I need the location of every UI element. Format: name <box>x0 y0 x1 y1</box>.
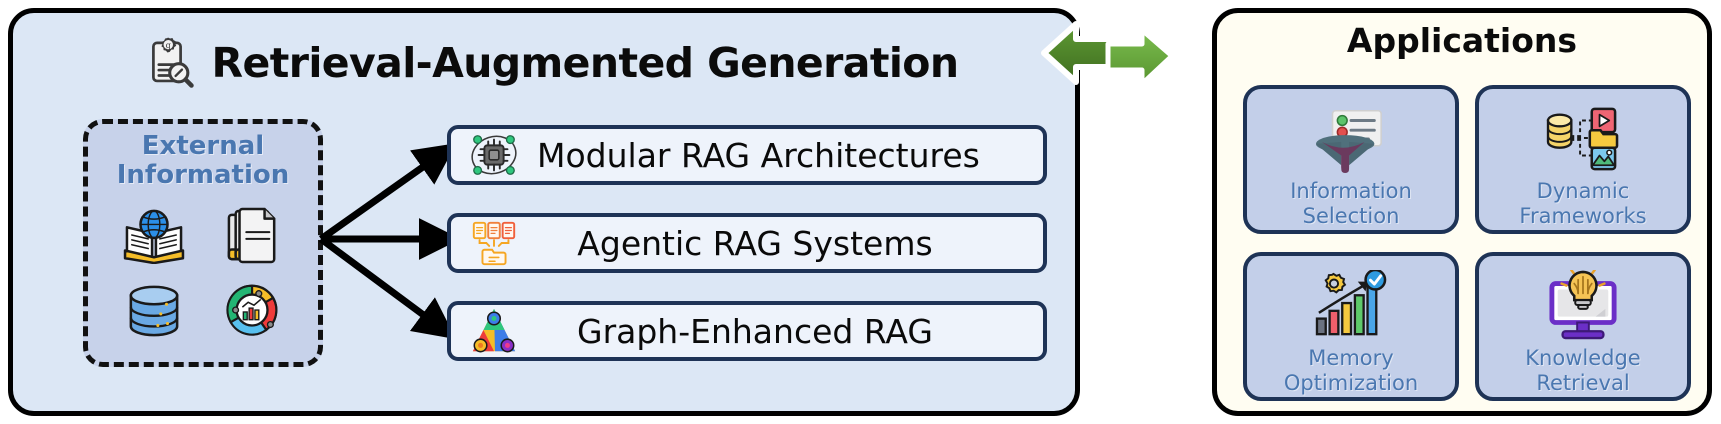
rag-panel: g Retrieval-Augmented Generation Externa… <box>8 8 1080 416</box>
applications-title: Applications <box>1217 21 1707 60</box>
chip-network-icon <box>451 129 537 181</box>
external-information-box: External Information <box>83 119 323 367</box>
external-title-line1: External <box>88 132 318 161</box>
documents-icon <box>227 207 279 265</box>
database-media-links-icon <box>1543 99 1623 177</box>
green-arrow-left <box>1044 24 1110 82</box>
external-title-line2: Information <box>88 161 318 190</box>
graph-triangle-nodes-icon <box>451 306 537 356</box>
app-card-information-selection[interactable]: Information Selection <box>1243 85 1459 234</box>
app-card-memory-optimization[interactable]: Memory Optimization <box>1243 252 1459 401</box>
app-card-label: Dynamic Frameworks <box>1519 179 1646 229</box>
external-icons <box>88 198 318 348</box>
app-card-dynamic-frameworks[interactable]: Dynamic Frameworks <box>1475 85 1691 234</box>
topic-label: Agentic RAG Systems <box>537 224 1043 263</box>
globe-book-icon <box>123 208 185 264</box>
topic-label: Modular RAG Architectures <box>537 136 1050 175</box>
applications-panel: Applications <box>1212 8 1712 416</box>
rag-title-row: g Retrieval-Augmented Generation <box>73 21 1023 105</box>
fan-arrows <box>313 113 453 363</box>
analytics-chart-icon <box>224 282 282 340</box>
agent-documents-folder-icon <box>451 218 537 268</box>
app-card-knowledge-retrieval[interactable]: Knowledge Retrieval <box>1475 252 1691 401</box>
applications-grid: Information Selection <box>1243 85 1691 401</box>
database-icon <box>126 284 182 338</box>
app-card-label: Knowledge Retrieval <box>1525 346 1640 396</box>
green-arrow-right <box>1108 30 1172 84</box>
growth-bars-gear-check-icon <box>1311 266 1391 344</box>
svg-text:g: g <box>165 40 170 50</box>
external-information-title: External Information <box>88 132 318 190</box>
app-card-label: Memory Optimization <box>1284 346 1418 396</box>
topic-box-agentic-rag[interactable]: Agentic RAG Systems <box>447 213 1047 273</box>
monitor-lightbulb-icon <box>1545 266 1621 344</box>
document-gear-magnifier-icon: g <box>138 32 196 94</box>
rag-title: Retrieval-Augmented Generation <box>212 39 959 87</box>
bidirectional-connector <box>1030 8 1190 98</box>
diagram-canvas: g Retrieval-Augmented Generation Externa… <box>0 0 1721 424</box>
topic-box-graph-enhanced-rag[interactable]: Graph-Enhanced RAG <box>447 301 1047 361</box>
app-card-label: Information Selection <box>1290 179 1412 229</box>
topic-label: Graph-Enhanced RAG <box>537 312 1043 351</box>
funnel-filter-icon <box>1312 99 1390 177</box>
topic-box-modular-rag[interactable]: Modular RAG Architectures <box>447 125 1047 185</box>
